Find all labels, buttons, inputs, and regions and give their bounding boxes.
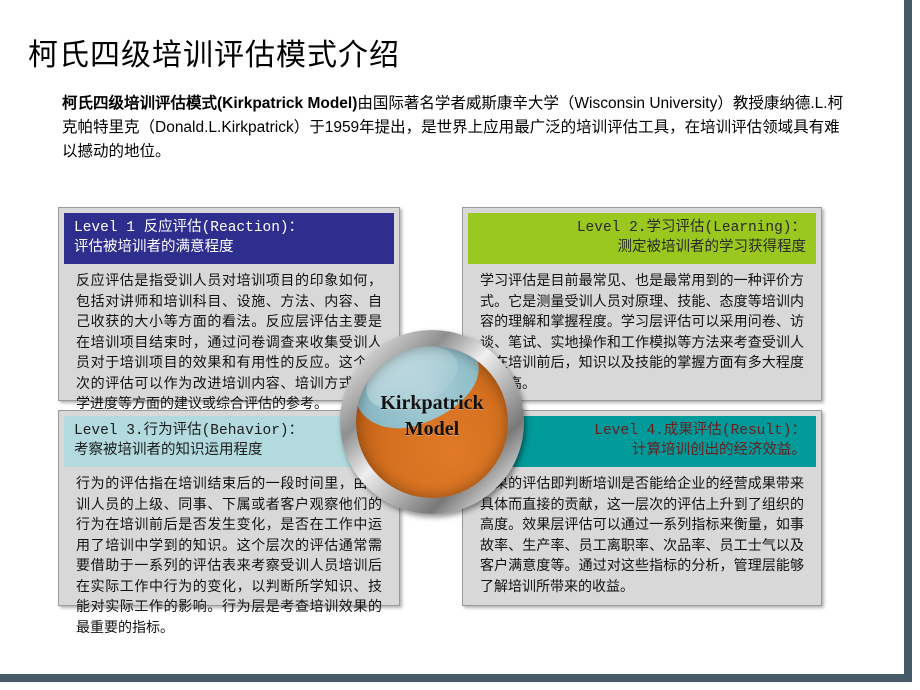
- level-1-header: Level 1 反应评估(Reaction)： 评估被培训者的满意程度: [64, 213, 394, 264]
- sphere-label: Kirkpatrick Model: [340, 390, 524, 442]
- slide-canvas: 柯氏四级培训评估模式介绍 柯氏四级培训评估模式(Kirkpatrick Mode…: [0, 0, 912, 682]
- level-2-header: Level 2.学习评估(Learning)： 测定被培训者的学习获得程度: [468, 213, 816, 264]
- intro-paragraph: 柯氏四级培训评估模式(Kirkpatrick Model)由国际著名学者威斯康辛…: [62, 92, 852, 164]
- kirkpatrick-sphere: Kirkpatrick Model: [340, 330, 524, 514]
- intro-lead-text: 柯氏四级培训评估模式(Kirkpatrick Model): [62, 95, 357, 112]
- page-title: 柯氏四级培训评估模式介绍: [28, 30, 400, 74]
